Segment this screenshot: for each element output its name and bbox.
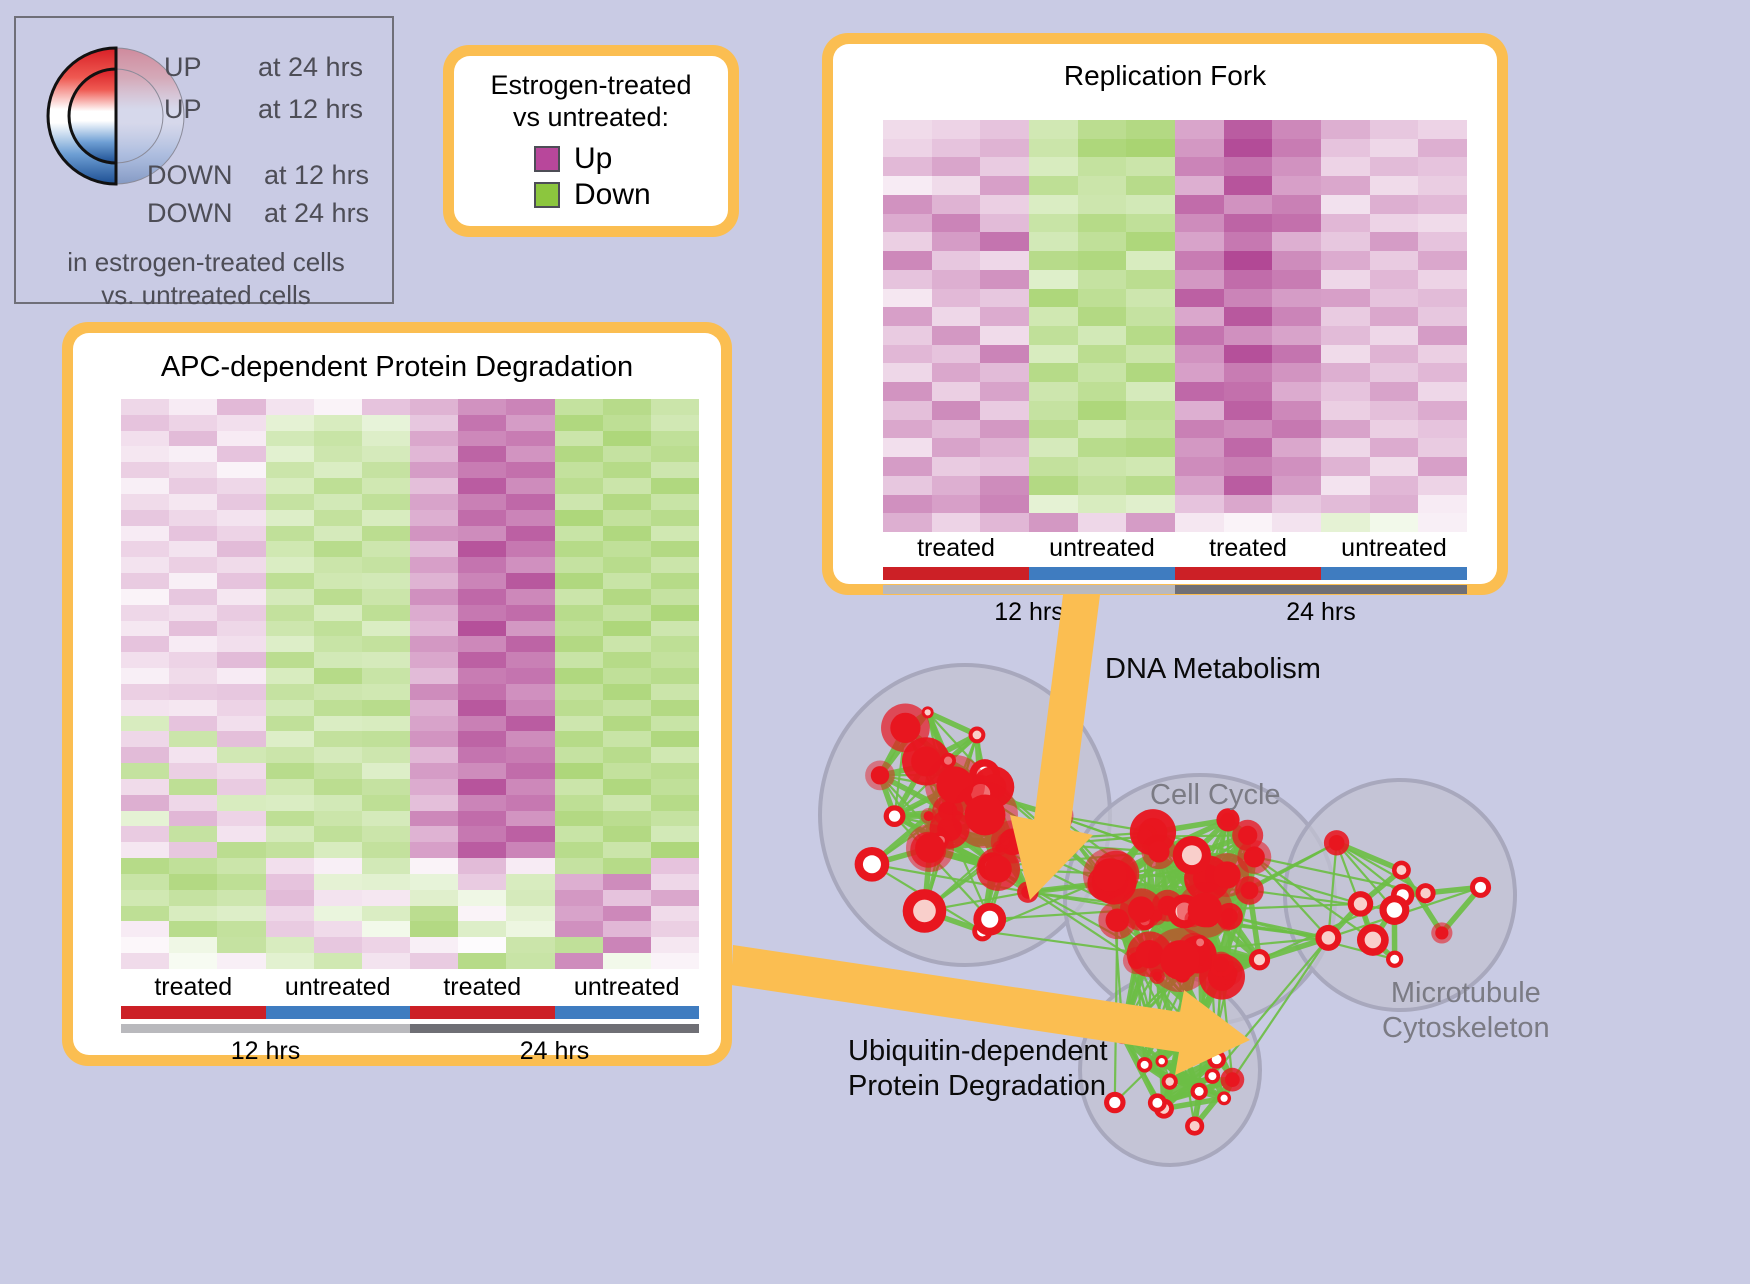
heatmap-cell	[362, 510, 410, 526]
heatmap-cell	[1418, 214, 1467, 233]
heatmap-cell	[217, 716, 265, 732]
heatmap-cell	[458, 953, 506, 969]
heatmap-cell	[217, 684, 265, 700]
heatmap-cell	[169, 842, 217, 858]
heatmap-cell	[217, 795, 265, 811]
heatmap-cell	[169, 731, 217, 747]
heatmap-cell	[314, 652, 362, 668]
heatmap-cell	[506, 890, 554, 906]
heatmap-cell	[217, 446, 265, 462]
network-node[interactable]	[1115, 1019, 1133, 1037]
heatmap-cell	[1175, 139, 1224, 158]
network-node[interactable]	[969, 726, 986, 743]
heatmap-cell	[1029, 232, 1078, 251]
node-core	[1475, 882, 1486, 893]
heatmap-cell	[1321, 176, 1370, 195]
heatmap-cell	[1418, 157, 1467, 176]
network-node[interactable]	[1172, 1035, 1189, 1052]
heatmap-cell	[651, 541, 699, 557]
heatmap-cell	[410, 953, 458, 969]
network-node[interactable]	[906, 824, 954, 872]
replication-group-labels: treated untreated treated untreated	[883, 534, 1467, 563]
heatmap-cell	[458, 747, 506, 763]
heatmap-cell	[1272, 157, 1321, 176]
heatmap-cell	[1370, 345, 1419, 364]
network-node[interactable]	[1141, 834, 1176, 869]
wheel-row-2-state: DOWN	[147, 162, 232, 189]
heatmap-cell	[980, 157, 1029, 176]
replication-fork-heatmap	[883, 120, 1467, 532]
heatmap-cell	[410, 700, 458, 716]
heatmap-cell	[121, 953, 169, 969]
heatmap-cell	[266, 763, 314, 779]
heatmap-cell	[651, 716, 699, 732]
heatmap-cell	[169, 921, 217, 937]
heatmap-cell	[651, 446, 699, 462]
heatmap-cell	[1321, 251, 1370, 270]
heatmap-cell	[169, 652, 217, 668]
network-node[interactable]	[976, 847, 1020, 891]
heatmap-cell	[1418, 326, 1467, 345]
heatmap-cell	[362, 842, 410, 858]
network-node[interactable]	[1148, 1093, 1167, 1112]
heatmap-cell	[506, 573, 554, 589]
network-node[interactable]	[1017, 881, 1039, 903]
heatmap-cell	[1078, 476, 1127, 495]
heatmap-cell	[362, 478, 410, 494]
heatmap-cell	[1029, 195, 1078, 214]
heatmap-cell	[651, 399, 699, 415]
heatmap-cell	[1370, 120, 1419, 139]
pathway-network-diagram: DNA Metabolism Cell Cycle Microtubule Cy…	[780, 610, 1750, 1279]
heatmap-cell	[458, 446, 506, 462]
network-node[interactable]	[1208, 952, 1233, 977]
network-node[interactable]	[1207, 1050, 1226, 1069]
node-core	[1238, 826, 1257, 845]
updown-title-line1: Estrogen-treated	[454, 70, 728, 102]
network-node[interactable]	[1392, 861, 1411, 880]
heatmap-cell	[1078, 232, 1127, 251]
heatmap-cell	[169, 573, 217, 589]
heatmap-cell	[314, 573, 362, 589]
heatmap-cell	[1078, 270, 1127, 289]
heatmap-cell	[1418, 139, 1467, 158]
network-node[interactable]	[1416, 883, 1436, 903]
legend-label-down: Down	[574, 178, 651, 212]
heatmap-cell	[1321, 345, 1370, 364]
heatmap-cell	[169, 763, 217, 779]
heatmap-cell	[651, 890, 699, 906]
heatmap-cell	[169, 668, 217, 684]
network-node[interactable]	[1324, 830, 1349, 855]
heatmap-cell	[1370, 363, 1419, 382]
heatmap-cell	[980, 139, 1029, 158]
cluster-label-dna-metabolism: DNA Metabolism	[1105, 652, 1321, 687]
heatmap-cell	[169, 541, 217, 557]
node-core	[985, 856, 1012, 883]
heatmap-cell	[266, 716, 314, 732]
heatmap-cell	[603, 541, 651, 557]
heatmap-cell	[1175, 457, 1224, 476]
network-node[interactable]	[1155, 1055, 1167, 1067]
heatmap-cell	[506, 668, 554, 684]
heatmap-cell	[266, 446, 314, 462]
heatmap-cell	[121, 921, 169, 937]
heatmap-cell	[217, 921, 265, 937]
node-core	[1198, 1013, 1206, 1021]
heatmap-cell	[555, 921, 603, 937]
heatmap-cell	[1175, 476, 1224, 495]
heatmap-cell	[555, 621, 603, 637]
heatmap-cell	[266, 684, 314, 700]
heatmap-cell	[651, 811, 699, 827]
heatmap-cell	[603, 399, 651, 415]
heatmap-cell	[314, 494, 362, 510]
heatmap-cell	[121, 557, 169, 573]
heatmap-cell	[217, 462, 265, 478]
heatmap-cell	[603, 652, 651, 668]
heatmap-cell	[883, 363, 932, 382]
heatmap-cell	[121, 446, 169, 462]
heatmap-cell	[1078, 382, 1127, 401]
apc-group-labels: treated untreated treated untreated	[121, 973, 699, 1002]
heatmap-cell	[1321, 157, 1370, 176]
heatmap-cell	[1224, 438, 1273, 457]
heatmap-cell	[362, 811, 410, 827]
group-bar-treated-24	[410, 1006, 555, 1019]
replication-time-bar	[883, 585, 1467, 594]
heatmap-cell	[458, 494, 506, 510]
heatmap-cell	[458, 700, 506, 716]
heatmap-cell	[1029, 345, 1078, 364]
heatmap-cell	[266, 842, 314, 858]
heatmap-cell	[932, 476, 981, 495]
heatmap-cell	[314, 446, 362, 462]
heatmap-cell	[217, 668, 265, 684]
network-node[interactable]	[952, 782, 1018, 848]
heatmap-cell	[217, 494, 265, 510]
node-core	[1045, 805, 1067, 827]
heatmap-cell	[883, 176, 932, 195]
heatmap-cell	[410, 858, 458, 874]
wheel-row-1-state: UP	[164, 96, 202, 123]
heatmap-cell	[362, 557, 410, 573]
heatmap-cell	[555, 747, 603, 763]
node-core	[913, 900, 936, 923]
heatmap-cell	[1272, 307, 1321, 326]
network-node[interactable]	[881, 704, 930, 753]
heatmap-cell	[651, 937, 699, 953]
heatmap-cell	[314, 906, 362, 922]
heatmap-cell	[1029, 476, 1078, 495]
heatmap-cell	[1078, 420, 1127, 439]
heatmap-cell	[1418, 195, 1467, 214]
heatmap-cell	[410, 636, 458, 652]
network-node[interactable]	[884, 805, 906, 827]
heatmap-cell	[1078, 157, 1127, 176]
network-node[interactable]	[855, 847, 890, 882]
heatmap-cell	[217, 589, 265, 605]
heatmap-cell	[1418, 438, 1467, 457]
network-node[interactable]	[1185, 1116, 1204, 1135]
heatmap-cell	[1321, 363, 1370, 382]
node-core	[1225, 1072, 1240, 1087]
heatmap-cell	[1126, 195, 1175, 214]
heatmap-cell	[410, 589, 458, 605]
heatmap-cell	[1418, 476, 1467, 495]
heatmap-cell	[217, 510, 265, 526]
heatmap-cell	[932, 438, 981, 457]
heatmap-cell	[555, 636, 603, 652]
heatmap-cell	[362, 937, 410, 953]
heatmap-cell	[1321, 120, 1370, 139]
heatmap-cell	[266, 731, 314, 747]
group-bar-untreated-24	[1321, 567, 1467, 580]
node-core	[863, 855, 881, 873]
heatmap-cell	[217, 557, 265, 573]
heatmap-cell	[362, 921, 410, 937]
network-node[interactable]	[1205, 853, 1249, 897]
heatmap-cell	[362, 906, 410, 922]
heatmap-cell	[217, 573, 265, 589]
heatmap-cell	[121, 763, 169, 779]
heatmap-cell	[266, 415, 314, 431]
heatmap-cell	[458, 557, 506, 573]
heatmap-cell	[266, 636, 314, 652]
heatmap-cell	[1321, 476, 1370, 495]
heatmap-cell	[410, 415, 458, 431]
heatmap-cell	[314, 921, 362, 937]
heatmap-cell	[883, 345, 932, 364]
heatmap-cell	[1272, 420, 1321, 439]
heatmap-cell	[1029, 289, 1078, 308]
wheel-row-3-time: at 24 hrs	[264, 200, 369, 227]
heatmap-cell	[555, 937, 603, 953]
group-bar-untreated-12	[266, 1006, 411, 1019]
heatmap-cell	[1224, 120, 1273, 139]
heatmap-cell	[458, 652, 506, 668]
heatmap-cell	[121, 842, 169, 858]
heatmap-cell	[1029, 307, 1078, 326]
heatmap-cell	[410, 716, 458, 732]
heatmap-cell	[1078, 139, 1127, 158]
heatmap-cell	[555, 716, 603, 732]
heatmap-cell	[458, 462, 506, 478]
updown-legend-panel: Estrogen-treated vs untreated: Up Down	[443, 45, 739, 237]
heatmap-cell	[980, 438, 1029, 457]
node-core	[981, 911, 998, 928]
heatmap-cell	[932, 139, 981, 158]
heatmap-cell	[1078, 345, 1127, 364]
network-node[interactable]	[1162, 1074, 1178, 1090]
heatmap-cell	[266, 826, 314, 842]
heatmap-cell	[217, 890, 265, 906]
node-core	[1190, 1121, 1200, 1131]
heatmap-cell	[458, 415, 506, 431]
heatmap-cell	[362, 953, 410, 969]
node-core	[1212, 1054, 1222, 1064]
heatmap-cell	[883, 120, 932, 139]
heatmap-cell	[362, 621, 410, 637]
heatmap-cell	[314, 890, 362, 906]
replication-group-bar	[883, 567, 1467, 580]
heatmap-cell	[266, 953, 314, 969]
heatmap-cell	[266, 557, 314, 573]
node-core	[1420, 888, 1430, 898]
replication-fork-title: Replication Fork	[833, 44, 1497, 92]
heatmap-cell	[883, 232, 932, 251]
network-node[interactable]	[1220, 1068, 1244, 1092]
heatmap-cell	[980, 289, 1029, 308]
network-node[interactable]	[1173, 836, 1211, 874]
heatmap-cell	[314, 779, 362, 795]
heatmap-cell	[651, 684, 699, 700]
heatmap-cell	[1175, 513, 1224, 532]
heatmap-cell	[1272, 232, 1321, 251]
network-node[interactable]	[1315, 925, 1341, 951]
heatmap-cell	[410, 890, 458, 906]
heatmap-cell	[217, 526, 265, 542]
heatmap-cell	[555, 526, 603, 542]
cluster-label-ubiquitin-degradation: Ubiquitin-dependent Protein Degradation	[848, 1034, 1108, 1104]
heatmap-cell	[217, 541, 265, 557]
heatmap-cell	[314, 731, 362, 747]
node-core	[890, 713, 920, 743]
heatmap-cell	[458, 842, 506, 858]
network-node[interactable]	[973, 903, 1006, 936]
heatmap-cell	[217, 399, 265, 415]
heatmap-cell	[266, 668, 314, 684]
heatmap-cell	[217, 858, 265, 874]
heatmap-cell	[506, 858, 554, 874]
heatmap-cell	[169, 890, 217, 906]
heatmap-cell	[603, 510, 651, 526]
heatmap-cell	[314, 763, 362, 779]
heatmap-cell	[410, 557, 458, 573]
heatmap-cell	[932, 382, 981, 401]
apc-time-bar	[121, 1024, 699, 1033]
network-node[interactable]	[1470, 877, 1491, 898]
heatmap-cell	[314, 716, 362, 732]
heatmap-cell	[410, 937, 458, 953]
replication-fork-panel: Replication Fork treated untreated treat…	[822, 33, 1508, 595]
network-node[interactable]	[1137, 1057, 1152, 1072]
heatmap-cell	[932, 214, 981, 233]
heatmap-cell	[266, 747, 314, 763]
heatmap-cell	[883, 157, 932, 176]
heatmap-cell	[121, 684, 169, 700]
network-node[interactable]	[1191, 1083, 1208, 1100]
network-node[interactable]	[1038, 798, 1073, 833]
legend-footer-line2: vs. untreated cells	[16, 279, 396, 312]
heatmap-cell	[169, 431, 217, 447]
network-node[interactable]	[1148, 928, 1212, 992]
heatmap-cell	[217, 953, 265, 969]
heatmap-cell	[169, 589, 217, 605]
heatmap-cell	[1175, 176, 1224, 195]
network-node[interactable]	[1386, 951, 1403, 968]
heatmap-cell	[314, 842, 362, 858]
heatmap-cell	[603, 557, 651, 573]
heatmap-cell	[1321, 307, 1370, 326]
heatmap-cell	[555, 858, 603, 874]
heatmap-cell	[1321, 420, 1370, 439]
heatmap-cell	[932, 195, 981, 214]
network-node[interactable]	[1083, 848, 1137, 902]
heatmap-cell	[458, 937, 506, 953]
node-core	[1119, 1023, 1129, 1033]
network-node[interactable]	[1348, 891, 1374, 917]
heatmap-cell	[555, 700, 603, 716]
heatmap-cell	[1078, 513, 1127, 532]
group-label-1: untreated	[266, 973, 411, 1002]
heatmap-cell	[362, 652, 410, 668]
network-node[interactable]	[1194, 1009, 1210, 1025]
heatmap-cell	[883, 457, 932, 476]
network-node[interactable]	[1379, 895, 1409, 925]
heatmap-cell	[980, 513, 1029, 532]
network-node[interactable]	[1217, 1091, 1231, 1105]
heatmap-cell	[506, 684, 554, 700]
heatmap-cell	[651, 526, 699, 542]
network-node[interactable]	[903, 889, 947, 933]
cluster-label-microtubule-cytoskeleton: Microtubule Cytoskeleton	[1382, 976, 1550, 1046]
heatmap-cell	[1175, 420, 1224, 439]
heatmap-cell	[883, 420, 932, 439]
heatmap-cell	[458, 541, 506, 557]
heatmap-cell	[1321, 195, 1370, 214]
heatmap-cell	[651, 494, 699, 510]
node-core	[1109, 1097, 1120, 1108]
heatmap-cell	[217, 779, 265, 795]
wheel-row-0-time: at 24 hrs	[258, 54, 363, 81]
heatmap-cell	[266, 779, 314, 795]
heatmap-cell	[410, 668, 458, 684]
heatmap-cell	[555, 652, 603, 668]
node-core	[1397, 865, 1407, 875]
heatmap-cell	[1224, 382, 1273, 401]
node-core	[1221, 813, 1235, 827]
network-node[interactable]	[865, 760, 895, 790]
heatmap-cell	[217, 811, 265, 827]
heatmap-cell	[1272, 495, 1321, 514]
heatmap-cell	[1175, 363, 1224, 382]
heatmap-cell	[121, 526, 169, 542]
network-node[interactable]	[1249, 949, 1270, 970]
heatmap-cell	[1224, 232, 1273, 251]
heatmap-cell	[932, 176, 981, 195]
heatmap-cell	[458, 399, 506, 415]
heatmap-cell	[458, 763, 506, 779]
heatmap-cell	[1321, 289, 1370, 308]
network-node[interactable]	[1357, 924, 1389, 956]
network-node[interactable]	[1205, 1068, 1221, 1084]
heatmap-cell	[314, 462, 362, 478]
heatmap-cell	[1175, 289, 1224, 308]
heatmap-cell	[1272, 289, 1321, 308]
heatmap-cell	[169, 953, 217, 969]
heatmap-cell	[1029, 139, 1078, 158]
group-label-2: treated	[410, 973, 555, 1002]
heatmap-cell	[651, 858, 699, 874]
heatmap-cell	[121, 652, 169, 668]
heatmap-cell	[980, 382, 1029, 401]
node-core	[1182, 845, 1202, 865]
network-node[interactable]	[1431, 922, 1452, 943]
heatmap-cell	[410, 795, 458, 811]
heatmap-cell	[932, 307, 981, 326]
heatmap-cell	[1175, 345, 1224, 364]
